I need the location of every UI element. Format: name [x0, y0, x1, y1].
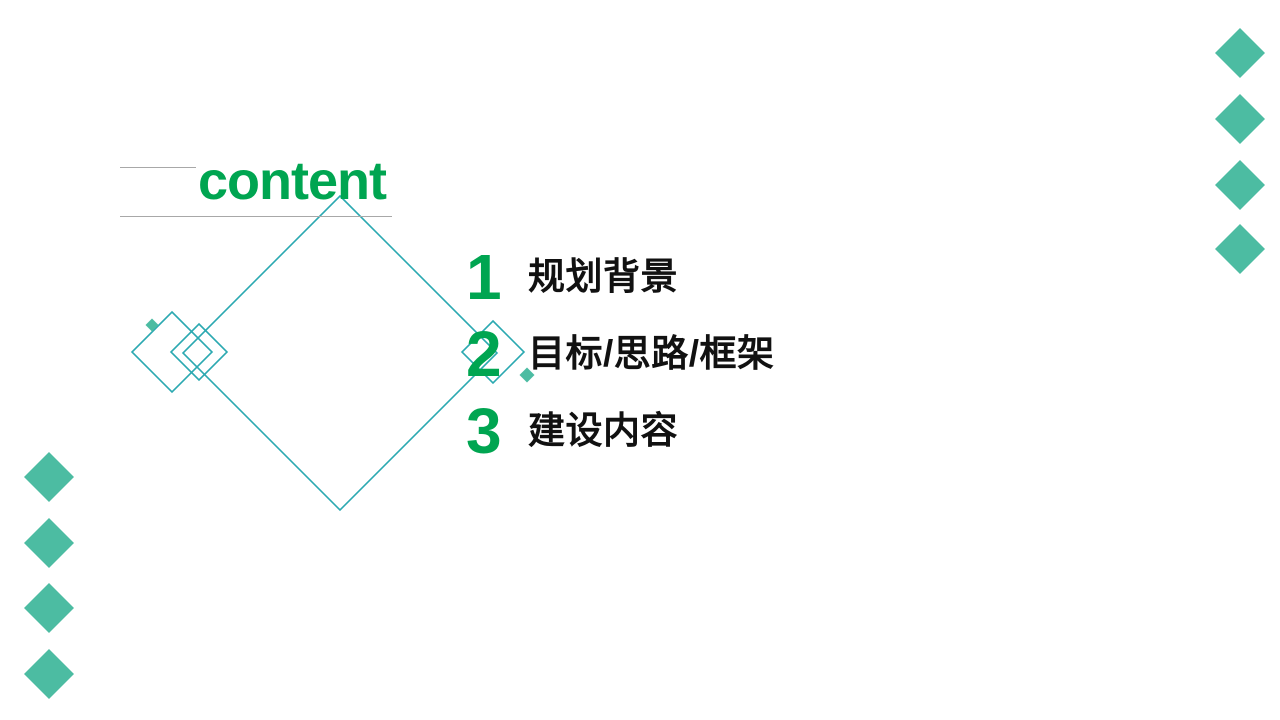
agenda-item-1-label: 规划背景: [528, 258, 678, 295]
agenda-item-3-label: 建设内容: [528, 412, 678, 449]
header-block: content: [120, 160, 460, 224]
right-diamond-4-icon: [1215, 224, 1265, 274]
agenda-item-3[interactable]: 3 建设内容: [466, 392, 986, 469]
slide-canvas: content 1 规划背景 2 目标/思路/框架 3 建设内容: [0, 0, 1280, 720]
left-diamond-3-icon: [24, 583, 74, 633]
page-title: content: [198, 154, 386, 208]
header-rule-bottom: [120, 216, 392, 217]
agenda-item-2-number: 2: [466, 322, 528, 386]
header-rule-top: [120, 167, 196, 168]
right-diamond-3-icon: [1215, 160, 1265, 210]
outline-diamond-left-large-icon: [132, 312, 212, 392]
agenda-item-2-label: 目标/思路/框架: [528, 335, 775, 372]
right-diamond-2-icon: [1215, 94, 1265, 144]
agenda-item-1[interactable]: 1 规划背景: [466, 238, 986, 315]
agenda-list: 1 规划背景 2 目标/思路/框架 3 建设内容: [466, 238, 986, 469]
accent-dot-left-icon: [146, 319, 159, 332]
left-diamond-2-icon: [24, 518, 74, 568]
agenda-item-3-number: 3: [466, 399, 528, 463]
agenda-item-1-number: 1: [466, 245, 528, 309]
large-outline-diamond-icon: [183, 196, 497, 510]
left-diamond-4-icon: [24, 649, 74, 699]
outline-diamond-left-small-icon: [171, 324, 227, 380]
left-diamond-1-icon: [24, 452, 74, 502]
right-diamond-1-icon: [1215, 28, 1265, 78]
agenda-item-2[interactable]: 2 目标/思路/框架: [466, 315, 986, 392]
